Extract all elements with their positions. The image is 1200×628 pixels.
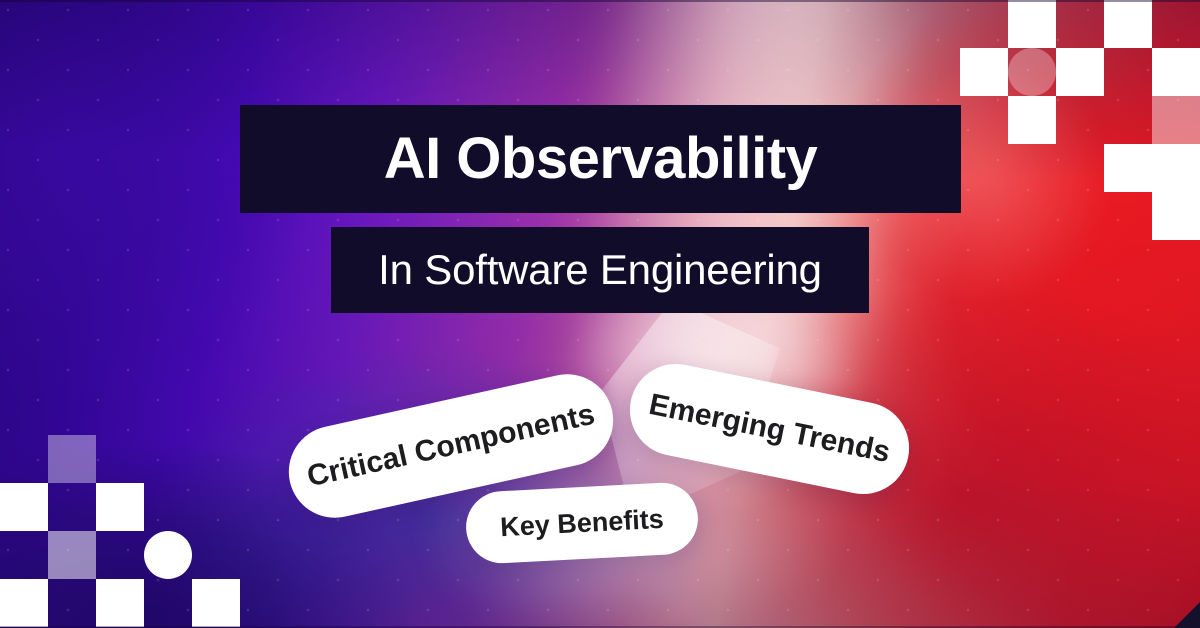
checker-top-right-cell [960, 48, 1008, 96]
checker-bottom-left-cell [0, 483, 48, 531]
page-subtitle: In Software Engineering [378, 249, 822, 291]
subtitle-plate: In Software Engineering [331, 227, 869, 313]
checker-bottom-left-cell [192, 579, 240, 627]
poster-canvas: AI Observability In Software Engineering… [0, 0, 1200, 628]
tag-label: Emerging Trends [646, 388, 893, 470]
checker-bottom-left-cell [0, 579, 48, 627]
checker-bottom-left-cell [96, 579, 144, 627]
title-plate: AI Observability [240, 105, 961, 213]
tag-key-benefits[interactable]: Key Benefits [464, 481, 699, 565]
checker-top-right-cell [1152, 96, 1200, 144]
checker-top-right-cell [1008, 48, 1056, 96]
tag-label: Key Benefits [500, 503, 665, 543]
checker-top-right-cell [1008, 0, 1056, 48]
checker-bottom-left-cell [48, 435, 96, 483]
checker-top-right-cell [1152, 192, 1200, 240]
checker-top-right-cell [1056, 48, 1104, 96]
checker-top-right-cell [1152, 48, 1200, 96]
checker-top-right-cell [1104, 0, 1152, 48]
top-edge-line [0, 0, 1200, 2]
checker-bottom-left-cell [48, 531, 96, 579]
checker-bottom-left-cell [96, 483, 144, 531]
page-title: AI Observability [384, 130, 818, 188]
checker-top-right-cell [1104, 144, 1152, 192]
checker-top-right-cell [1008, 96, 1056, 144]
checker-bottom-left-cell [144, 531, 192, 579]
checker-top-right-cell [1152, 144, 1200, 192]
